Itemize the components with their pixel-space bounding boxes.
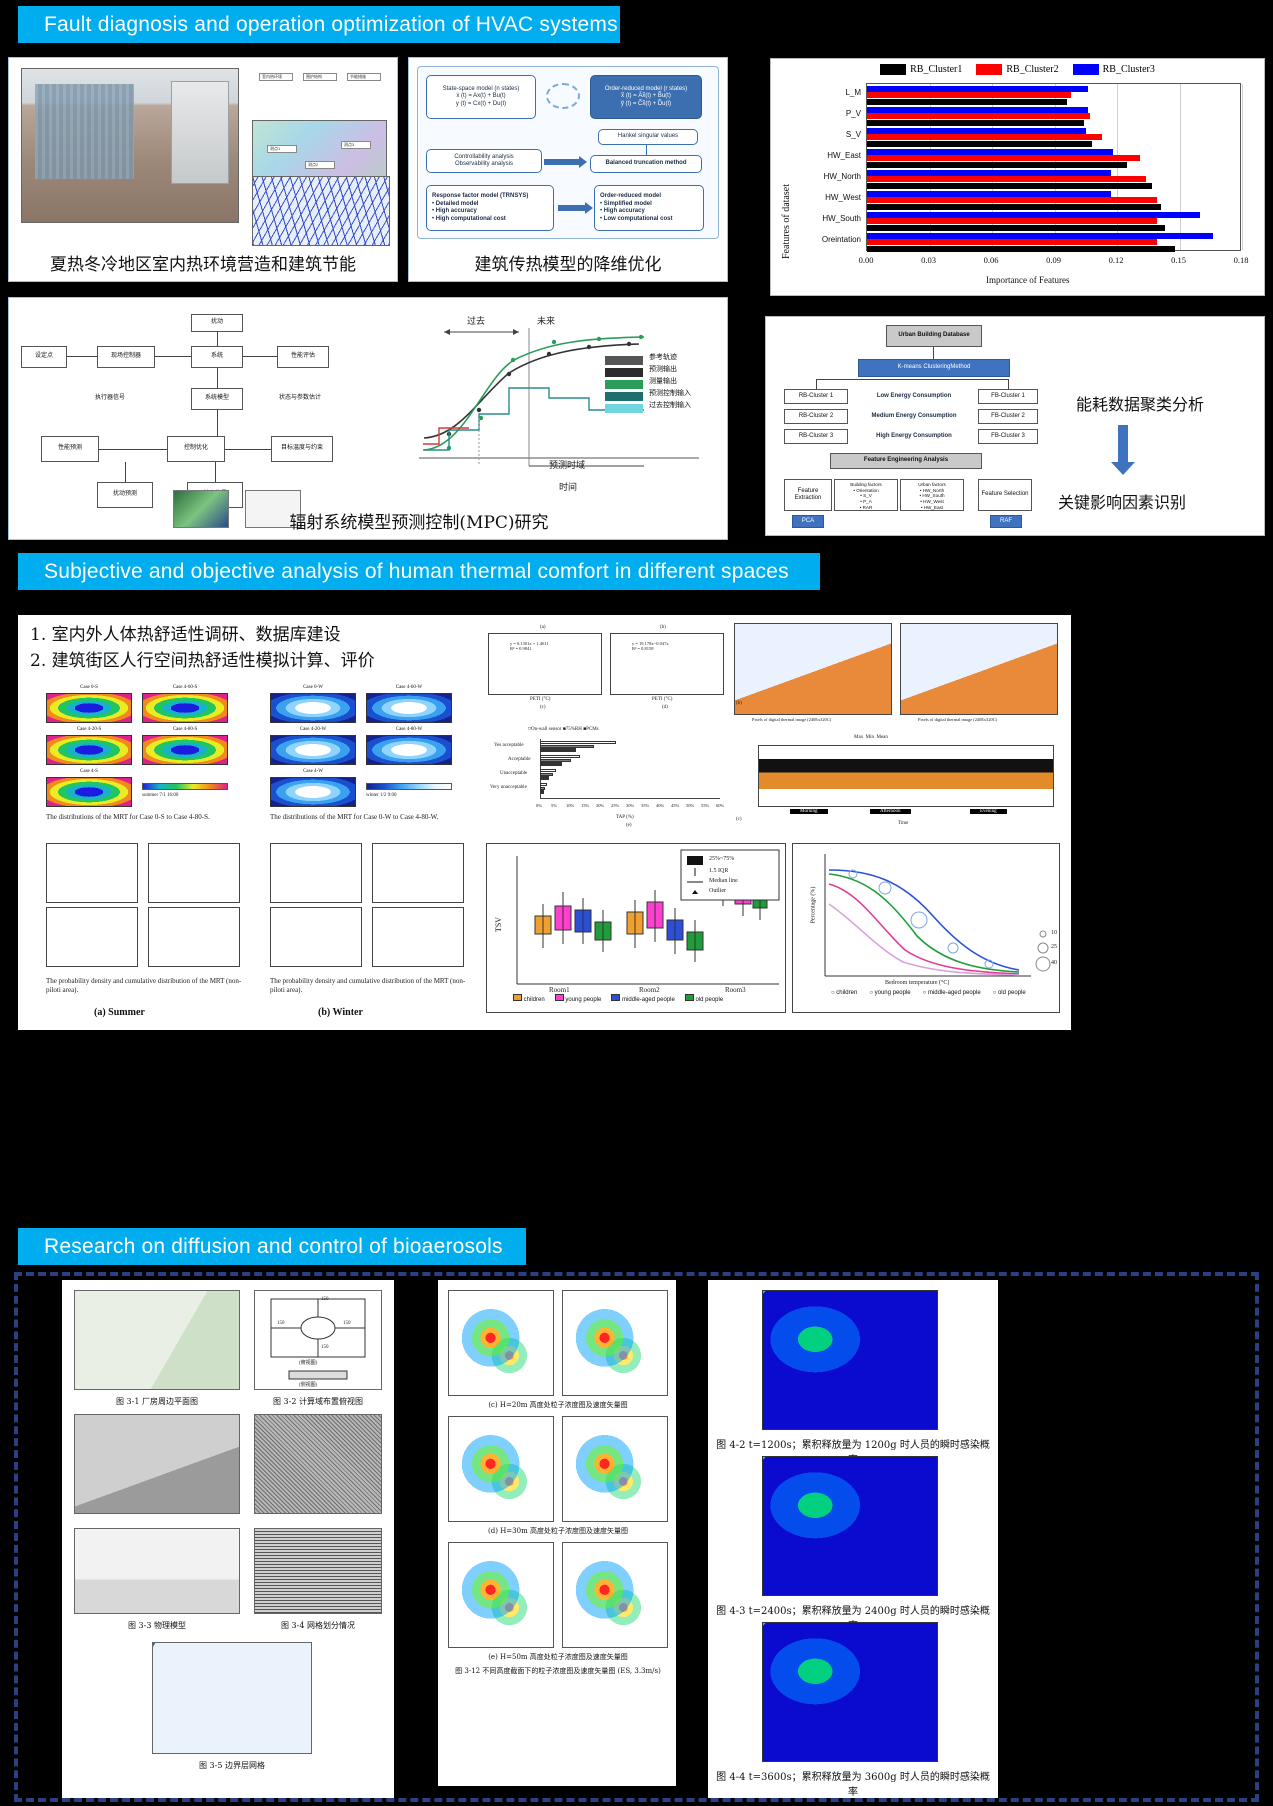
mrt-case-label: Case 4-60-S <box>142 685 228 690</box>
mrt-map <box>142 693 228 723</box>
resp-item-0: • Detailed model <box>432 201 478 209</box>
comfort-bullet-2: 2. 建筑街区人行空间热舒适性模拟计算、评价 <box>30 649 450 675</box>
timeseries-chart <box>758 745 1054 807</box>
flow-feature-extraction: Feature Extraction <box>784 479 832 511</box>
boxplot-key-2: Median line <box>709 878 738 884</box>
reduced-model-summary-box: Order-reduced model • Simplified model •… <box>594 185 704 231</box>
mpc-label-past: 过去 <box>467 314 485 327</box>
infection-map-3600s <box>762 1622 938 1762</box>
ts-segment-afternoon: Afternoon <box>870 809 911 814</box>
surface-xlabel-left: Pixels of digital thermal image (240Ex32… <box>752 717 831 722</box>
dim-label-left: 150 <box>277 1321 285 1326</box>
chart-bar <box>867 212 1200 218</box>
chart-x-tick: 0.15 <box>1163 255 1195 265</box>
acceptability-xtick: 35% <box>641 803 649 808</box>
flow-connector <box>816 379 817 389</box>
chart-bar <box>867 99 1067 105</box>
chart-xlabel: Importance of Features <box>986 275 1069 285</box>
chart-bar <box>867 204 1161 210</box>
cfd-slice-50m-left <box>448 1542 554 1648</box>
acceptability-bar-chart: □On-wall sensor ■75%RH ■PCMs Yes accepta… <box>488 727 728 827</box>
dim-label-bottom: 150 <box>321 1345 329 1350</box>
scatter-charts: (a) (b) y = 0.1301x + 1.4611 R² = 0.9841… <box>488 625 728 715</box>
chart-bar <box>867 149 1113 155</box>
mrt-case-label: Case 4-60-W <box>366 685 452 690</box>
acceptability-xtick: 40% <box>656 803 664 808</box>
chart-bar <box>867 170 1111 176</box>
node-target-constraint: 目标温度与约束 <box>271 436 333 462</box>
prob-chart <box>270 843 362 903</box>
mpc-legend-1: 预测输出 <box>649 364 691 376</box>
prob-chart <box>372 843 464 903</box>
chart-gridline <box>1180 84 1181 250</box>
chart-bar <box>867 155 1140 161</box>
red-item-1: • High accuracy <box>600 208 645 216</box>
colorbar-scale-winter: winter 1/2 9:00 <box>366 793 397 798</box>
connector <box>99 449 167 450</box>
legend-item-2: RB_Cluster3 <box>1073 64 1155 75</box>
mpc-legend-3: 预测控制输入 <box>649 388 691 400</box>
flow-level-medium: Medium Energy Consumption <box>858 409 970 424</box>
scatter-eq-d: y = 19.178x−0.047x R² = 0.8158 <box>632 641 669 651</box>
connector <box>217 410 218 436</box>
flow-pca-box: PCA <box>792 515 824 528</box>
panel3-caption: 辐射系统模型预测控制(MPC)研究 <box>139 508 699 533</box>
chart-bar <box>867 233 1213 239</box>
section-banner-1: Fault diagnosis and operation optimizati… <box>18 6 620 43</box>
comfort-bullet-1: 1. 室内外人体热舒适性调研、数据库建设 <box>30 623 450 649</box>
fig-caption-3-3: 图 3-3 物理模型 <box>74 1620 240 1631</box>
surface-plot-left <box>734 623 892 715</box>
acceptability-cat-1: Acceptable <box>508 757 531 762</box>
red-item-0: • Simplified model <box>600 201 652 209</box>
bedroom-temperature-curve-chart: Percentage (%) Bedroom temperature (°C) … <box>792 843 1060 1013</box>
red-title: Order-reduced model <box>600 193 661 201</box>
chart-category-label: HW_East <box>791 151 861 160</box>
acceptability-xtick: 45% <box>671 803 679 808</box>
prob-chart <box>46 843 138 903</box>
curve-ylabel: Percentage (%) <box>810 887 816 924</box>
boxplot-key-3: Outlier <box>709 888 726 894</box>
mrt-case-label: Case 4-S <box>46 769 132 774</box>
flow-fb-cluster-3: FB-Cluster 3 <box>978 429 1038 444</box>
prob-chart <box>148 843 240 903</box>
acceptability-xtick: 15% <box>581 803 589 808</box>
connector <box>215 462 216 482</box>
prob-caption-summer: The probability density and cumulative d… <box>46 977 246 996</box>
chart-category-label: Oreintation <box>791 235 861 244</box>
scatter-panel-label-a: (a) <box>540 625 546 630</box>
mrt-map <box>46 735 132 765</box>
mrt-case-label: Case 4-80-S <box>142 727 228 732</box>
prob-chart <box>372 907 464 967</box>
cfd-slice-30m-right <box>562 1416 668 1522</box>
flow-rb-cluster-2: RB-Cluster 2 <box>784 409 848 424</box>
surface-panel-label-b: (b) <box>736 701 742 706</box>
bar-legend-0: □On-wall sensor <box>528 727 561 732</box>
chart-bar <box>867 134 1102 140</box>
cfd-slice-30m-left <box>448 1416 554 1522</box>
order-reduced-model-box: Order-reduced model (r states) x̃ (t) = … <box>590 75 702 119</box>
ts-legend-mean: Mean <box>877 735 888 740</box>
chart-bar <box>867 176 1146 182</box>
acceptability-xtick: 20% <box>596 803 604 808</box>
scatter-panel-label-d: (d) <box>662 705 668 710</box>
mpc-legend-4: 过去控制输入 <box>649 400 691 412</box>
curve-size-legend-40: 40 <box>1051 960 1057 966</box>
legend-swatch-0 <box>880 64 906 75</box>
node-state-param-estimate: 状态与参数估计 <box>271 388 329 410</box>
subfig-b-winter: (b) Winter <box>318 1007 363 1018</box>
hankel-label: Hankel singular values <box>618 133 678 141</box>
flow-fb-cluster-1: FB-Cluster 1 <box>978 389 1038 404</box>
feature-importance-chart: RB_Cluster1 RB_Cluster2 RB_Cluster3 Feat… <box>770 58 1265 296</box>
box-legend-children: children <box>513 994 545 1003</box>
chart-bar <box>867 239 1157 245</box>
panel-plant-site-and-mesh: 150 150 150 150 (俯视图) (侧视图) 图 3-1 厂房周边平面… <box>62 1280 394 1798</box>
curve-svg <box>793 844 1061 1014</box>
legend-swatch-1 <box>976 64 1002 75</box>
chart-bar <box>867 246 1175 252</box>
mrt-map-w <box>366 693 452 723</box>
fig-caption-3-5: 图 3-5 边界层网格 <box>152 1760 312 1771</box>
ts-panel-label-c: (c) <box>736 817 742 822</box>
node-local-controller: 现场控制器 <box>97 346 155 368</box>
cfd-slice-20m-left <box>448 1290 554 1396</box>
ts-legend-min: Min <box>866 735 874 740</box>
acceptability-cat-2: Unacceptable <box>500 771 527 776</box>
chart-x-tick: 0.12 <box>1100 255 1132 265</box>
surface-plots: (b) Pixels of digital thermal image (240… <box>734 623 1060 733</box>
flow-connector <box>1008 379 1009 389</box>
map-site-plan <box>74 1290 240 1390</box>
section-banner-3: Research on diffusion and control of bio… <box>18 1228 526 1265</box>
model-3d-mesh <box>254 1414 382 1514</box>
surface-xlabel-right: Pixels of digital thermal image (240Ex32… <box>918 717 997 722</box>
node-performance-eval: 性能评估 <box>277 346 329 368</box>
arrow-right-icon-2 <box>558 205 586 211</box>
boxplot-legend: children young people middle-aged people… <box>513 994 773 1003</box>
flow-urban-factors: Urban factors • HW_North • HW_South • HW… <box>900 479 964 511</box>
fig-caption-3-1: 图 3-1 厂房周边平面图 <box>74 1396 240 1407</box>
prob-charts-summer <box>46 843 242 973</box>
mpc-horizon-chart: 过去 未来 预测时域 时间 参考轨迹 预测输出 测量输出 预测控制输入 过去控制… <box>409 318 709 478</box>
node-control-optimization: 控制优化 <box>167 436 225 462</box>
chart-bar <box>867 120 1084 126</box>
node-system: 系统 <box>191 346 243 368</box>
section-banner-2: Subjective and objective analysis of hum… <box>18 553 820 590</box>
mpc-label-future: 未来 <box>537 314 555 327</box>
colorbar-scale-summer: summer 7/1 16:00 <box>142 793 178 798</box>
legend-item-1: RB_Cluster2 <box>976 64 1058 75</box>
mrt-map <box>46 777 132 807</box>
node-disturbance: 扰动 <box>191 314 243 332</box>
bar-legend-1: ■75%RH <box>563 727 582 732</box>
flow-feature-selection: Feature Selection <box>978 479 1032 511</box>
panel-thermal-comfort: 1. 室内外人体热舒适性调研、数据库建设 2. 建筑街区人行空间热舒适性模拟计算… <box>18 615 1071 1030</box>
prob-caption-winter: The probability density and cumulative d… <box>270 977 470 996</box>
mrt-case-label: Case 0-W <box>270 685 356 690</box>
mrt-map-w <box>270 777 356 807</box>
node-actuator-signal: 执行器信号 <box>85 388 135 410</box>
acceptability-legend: □On-wall sensor ■75%RH ■PCMs <box>528 727 599 732</box>
fig-caption-3-12-c: (c) H=20m 高度处粒子浓度图及速度矢量图 <box>448 1400 668 1410</box>
connector <box>125 462 126 482</box>
chart-category-label: HW_West <box>791 193 861 202</box>
scatter-panel-label-b: (b) <box>660 625 666 630</box>
connector <box>67 356 97 357</box>
fig-caption-3-12-d: (d) H=30m 高度处粒子浓度图及速度矢量图 <box>448 1526 668 1536</box>
state-space-model-box: State-space model (n states) ẋ (t) = Ax(… <box>426 75 536 119</box>
model-city-blocks <box>74 1528 240 1614</box>
panel-energy-clustering-flow: Urban Building Database K-means Clusteri… <box>765 316 1265 536</box>
infection-map-1200s <box>762 1290 938 1430</box>
ts-segment-evening: Evening <box>970 809 1007 814</box>
chart-legend: RB_Cluster1 RB_Cluster2 RB_Cluster3 <box>771 64 1264 75</box>
red-item-2: • Low computational cost <box>600 216 672 224</box>
hankel-singular-values-box: Hankel singular values <box>598 129 698 145</box>
mrt-caption-winter: The distributions of the MRT for Case 0-… <box>270 813 466 822</box>
subfig-a-summer: (a) Summer <box>94 1007 145 1018</box>
chart-x-tick: 0.03 <box>913 255 945 265</box>
chart-bar <box>867 162 1127 168</box>
mrt-case-label: Case 4-80-W <box>366 727 452 732</box>
connector <box>155 356 191 357</box>
chart-category-label: L_M <box>791 88 861 97</box>
diagram-domain-topview: 150 150 150 150 (俯视图) (侧视图) <box>254 1290 382 1390</box>
scatter-xlabel-c: PETI (°C) <box>530 697 550 702</box>
ts-legend-max: Max <box>854 735 863 740</box>
response-factor-model-box: Response factor model (TRNSYS) • Detaile… <box>426 185 554 231</box>
curve-legend-old: ○ old people <box>993 990 1026 996</box>
node-performance-predict: 性能预测 <box>41 436 99 462</box>
ts-xlabel: Time <box>898 821 908 826</box>
view-label-top: (俯视图) <box>299 1359 317 1366</box>
flow-level-low: Low Energy Consumption <box>858 389 970 404</box>
box-legend-young: young people <box>555 994 602 1003</box>
mrt-case-label: Case 4-20-W <box>270 727 356 732</box>
mpc-label-horizon: 预测时域 <box>549 458 585 471</box>
legend-item-0: RB_Cluster1 <box>880 64 962 75</box>
connector-line <box>646 145 647 155</box>
box-legend-middle: middle-aged people <box>611 994 674 1003</box>
annotation-key-factors: 关键影响因素识别 <box>1058 489 1186 513</box>
boxplot-cat-2: Room3 <box>725 986 746 994</box>
fig-caption-3-2: 图 3-2 计算域布置俯视图 <box>254 1396 382 1407</box>
boxplot-key-0: 25%~75% <box>709 856 734 862</box>
mpc-legend-2: 测量输出 <box>649 376 691 388</box>
resp-item-1: • High accuracy <box>432 208 477 216</box>
timeseries-plot: Max Min Mean Morning Afternoon Evening (… <box>734 735 1060 831</box>
mrt-case-label: Case 4-20-S <box>46 727 132 732</box>
curve-size-legend-25: 25 <box>1051 944 1057 950</box>
panel-model-order-reduction: State-space model (n states) ẋ (t) = Ax(… <box>408 57 728 282</box>
acceptability-bar <box>540 748 576 751</box>
chart-bar <box>867 218 1157 224</box>
controllability-label: Controllability analysis Observability a… <box>454 154 513 169</box>
mrt-map <box>142 735 228 765</box>
acceptability-xtick: 5% <box>551 803 557 808</box>
curve-xlabel: Bedroom temperature (°C) <box>885 980 949 986</box>
chart-bar <box>867 183 1152 189</box>
order-reduced-eq2: ỹ (t) = C̃x̃(t) + D̃u(t) <box>621 101 671 109</box>
section-title-3: Research on diffusion and control of bio… <box>44 1235 503 1259</box>
connector <box>217 332 218 346</box>
annotation-energy-clustering: 能耗数据聚类分析 <box>1076 391 1204 415</box>
photo-test-room <box>21 68 239 223</box>
scatter-xlabel-d: PETI (°C) <box>652 697 672 702</box>
timeseries-legend: Max Min Mean <box>854 735 888 740</box>
chart-category-label: S_V <box>791 130 861 139</box>
chart-bar <box>867 191 1111 197</box>
resp-title: Response factor model (TRNSYS) <box>432 193 528 201</box>
controllability-observability-box: Controllability analysis Observability a… <box>426 149 542 173</box>
mpc-legend: 参考轨迹 预测输出 测量输出 预测控制输入 过去控制输入 <box>649 352 691 412</box>
node-system-model: 系统模型 <box>191 388 243 410</box>
infection-map-2400s <box>762 1456 938 1596</box>
colorbar-summer <box>142 783 228 790</box>
cfd-slice-50m-right <box>562 1542 668 1648</box>
acceptability-xtick: 50% <box>686 803 694 808</box>
chart-x-tick: 0.18 <box>1225 255 1257 265</box>
model-3d-domain <box>74 1414 240 1514</box>
flow-connector <box>933 347 934 359</box>
panel-cfd-concentration-slices: (c) H=20m 高度处粒子浓度图及速度矢量图 (d) H=30m 高度处粒子… <box>438 1280 676 1786</box>
panel-mpc-radiant-system: 设定点 现场控制器 系统 性能评估 扰动 执行器信号 系统模型 状态与参数估计 … <box>8 297 728 540</box>
fig-caption-3-12-e: (e) H=50m 高度处粒子浓度图及速度矢量图 <box>448 1652 668 1662</box>
panel-infection-probability-maps: 图 4-2 t=1200s；累积释放量为 1200g 时人员的瞬时感染概率 图 … <box>708 1280 998 1798</box>
curve-legend: ○ children ○ young people ○ middle-aged … <box>831 990 1051 996</box>
state-space-eq1: ẋ (t) = Ax(t) + Bu(t) <box>456 93 505 101</box>
legend-swatch-2 <box>1073 64 1099 75</box>
chart-category-label: HW_North <box>791 172 861 181</box>
node-disturbance-predict: 扰动预测 <box>97 482 153 508</box>
acceptability-xtick: 60% <box>716 803 724 808</box>
tsv-boxplot: TSV <box>486 843 786 1013</box>
panel1-caption: 夏热冬冷地区室内热环境营造和建筑节能 <box>9 250 397 275</box>
mrt-grid-summer: Case 0-S Case 4-60-S Case 4-20-S Case 4-… <box>46 685 236 810</box>
mrt-map <box>46 693 132 723</box>
scatter-eq-c: y = 0.1301x + 1.4611 R² = 0.9841 <box>510 641 549 651</box>
curve-legend-middle: ○ middle-aged people <box>923 990 981 996</box>
flow-feature-engineering-box: Feature Engineering Analysis <box>830 453 982 469</box>
mpc-axis-time: 时间 <box>559 480 577 493</box>
chart-category-label: HW_South <box>791 214 861 223</box>
state-space-title: State-space model (n states) <box>443 86 520 94</box>
arrow-right-icon <box>544 159 580 165</box>
acceptability-xtick: 55% <box>701 803 709 808</box>
flow-raf-box: RAF <box>990 515 1022 528</box>
photo-floor-mesh <box>252 176 390 246</box>
prob-chart <box>270 907 362 967</box>
boxplot-key-1: 1.5 IQR <box>709 868 728 874</box>
acceptability-panel-label: (e) <box>626 823 632 828</box>
mrt-map-w <box>270 735 356 765</box>
mrt-case-label: Case 0-S <box>46 685 132 690</box>
mpc-legend-0: 参考轨迹 <box>649 352 691 364</box>
flow-kmeans-box: K-means ClusteringMethod <box>858 359 1010 377</box>
flow-fb-cluster-2: FB-Cluster 2 <box>978 409 1038 424</box>
comfort-bullets: 1. 室内外人体热舒适性调研、数据库建设 2. 建筑街区人行空间热舒适性模拟计算… <box>30 623 450 674</box>
dim-label-top: 150 <box>321 1297 329 1302</box>
state-space-eq2: y (t) = Cx(t) + Du(t) <box>456 101 506 109</box>
chart-category-label: P_V <box>791 109 861 118</box>
curve-size-legend-10: 10 <box>1051 930 1057 936</box>
scatter-panel-label-c: (c) <box>540 705 546 710</box>
chart-bar <box>867 141 1092 147</box>
chart-bar <box>867 113 1090 119</box>
boxplot-ylabel: TSV <box>494 917 503 932</box>
curve-legend-children: ○ children <box>831 990 857 996</box>
flow-level-high: High Energy Consumption <box>858 429 970 444</box>
arrow-down-icon <box>1118 425 1128 463</box>
chart-bar <box>867 92 1071 98</box>
fig-caption-3-4: 图 3-4 网格划分情况 <box>254 1620 382 1631</box>
resp-item-2: • High computational cost <box>432 216 506 224</box>
acceptability-bar <box>540 762 562 765</box>
acceptability-xlabel: TAP (%) <box>616 815 634 820</box>
colorbar-winter <box>366 783 452 790</box>
cfd-slice-20m-right <box>562 1290 668 1396</box>
dim-label-right: 150 <box>343 1321 351 1326</box>
chart-bar <box>867 107 1088 113</box>
chart-x-tick: 0.00 <box>850 255 882 265</box>
flow-rb-cluster-1: RB-Cluster 1 <box>784 389 848 404</box>
ts-segment-morning: Morning <box>790 809 828 814</box>
dashed-ellipse-icon <box>546 83 580 109</box>
model-mesh-closeup <box>254 1528 382 1614</box>
acceptability-cat-0: Yes acceptable <box>494 743 524 748</box>
mrt-map-w <box>270 693 356 723</box>
section-title-1: Fault diagnosis and operation optimizati… <box>44 13 618 37</box>
flow-connector <box>816 379 1008 380</box>
chart-plot-area <box>866 83 1241 251</box>
prob-charts-winter <box>270 843 466 973</box>
panel-indoor-thermal-environment: 室内热环境 围护结构 节能措施 测点1 测点2 测点3 夏热冬冷地区室内热环境营… <box>8 57 398 282</box>
fig-caption-3-12: 图 3-12 不同高度截面下的粒子浓度图及速度矢量图 (ES, 3.3m/s) <box>448 1666 668 1676</box>
connector <box>217 368 218 388</box>
box-legend-old: old people <box>685 994 723 1003</box>
acceptability-xtick: 30% <box>626 803 634 808</box>
mrt-grid-winter: Case 0-W Case 4-60-W Case 4-20-W Case 4-… <box>270 685 460 810</box>
balanced-truncation-box: Balanced truncation method <box>590 155 702 173</box>
domain-topview-svg <box>255 1291 381 1389</box>
model-boundary-layer-mesh <box>152 1642 312 1754</box>
acceptability-xtick: 25% <box>611 803 619 808</box>
surface-plot-right <box>900 623 1058 715</box>
flow-building-factors: Building factors • Orientation • S_V • P… <box>834 479 898 511</box>
acceptability-bar <box>540 790 544 793</box>
prob-chart <box>46 907 138 967</box>
bar-legend-2: ■PCMs <box>583 727 599 732</box>
acceptability-xtick: 0% <box>536 803 542 808</box>
acceptability-cat-3: Very unacceptable <box>490 785 527 790</box>
node-setpoint: 设定点 <box>21 346 67 368</box>
prob-chart <box>148 907 240 967</box>
boxplot-cat-1: Room2 <box>639 986 660 994</box>
mrt-map-w <box>366 735 452 765</box>
flow-rb-cluster-3: RB-Cluster 3 <box>784 429 848 444</box>
acceptability-bar <box>540 776 549 779</box>
balanced-truncation-label: Balanced truncation method <box>605 160 686 168</box>
acceptability-xtick: 10% <box>566 803 574 808</box>
mrt-caption-summer: The distributions of the MRT for Case 0-… <box>46 813 242 822</box>
chart-bar <box>867 197 1157 203</box>
mrt-case-label: Case 4-W <box>270 769 356 774</box>
panel2-caption: 建筑传热模型的降维优化 <box>409 250 727 275</box>
chart-gridline <box>1242 84 1243 250</box>
connector <box>243 356 277 357</box>
